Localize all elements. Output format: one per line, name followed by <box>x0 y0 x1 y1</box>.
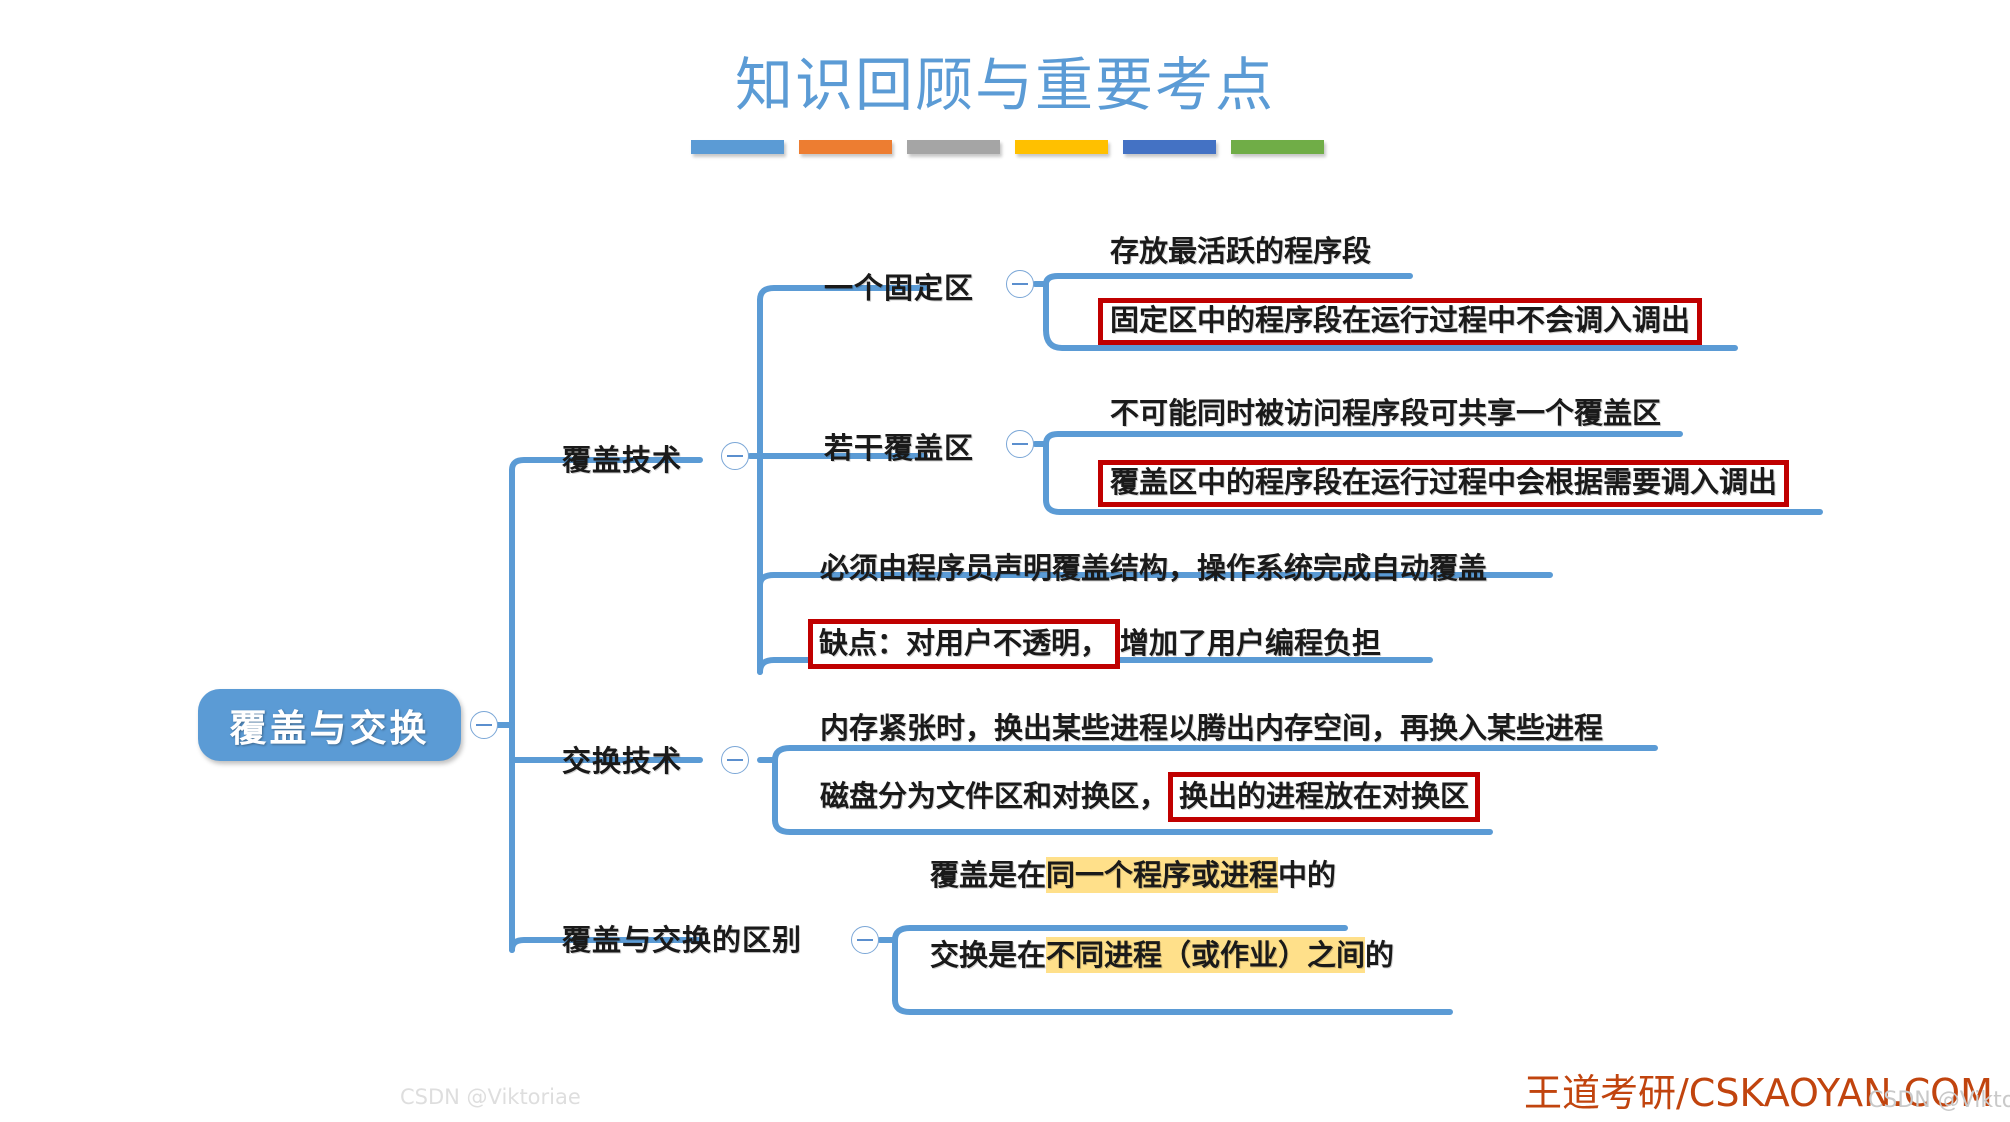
leaf-overlay-same-process-pre: 覆盖是在 <box>930 858 1046 892</box>
bar-green <box>1231 140 1324 154</box>
page-title: 知识回顾与重要考点 <box>0 38 2010 122</box>
csdn-watermark-left: CSDN @Viktoriae <box>400 1085 581 1109</box>
toggle-fixed-area[interactable] <box>1006 270 1034 298</box>
branch-label-difference[interactable]: 覆盖与交换的区别 <box>562 917 802 959</box>
node-fixed-area[interactable]: 一个固定区 <box>824 265 974 307</box>
leaf-swap-between-processes-highlight: 不同进程（或作业）之间 <box>1046 937 1365 973</box>
branch-toggle-swap-technique[interactable] <box>721 746 749 774</box>
leaf-disk-file-swap-area-plain: 磁盘分为文件区和对换区， <box>820 779 1168 813</box>
leaf-overlay-area-swap-on-demand[interactable]: 覆盖区中的程序段在运行过程中会根据需要调入调出 <box>1098 460 1789 507</box>
root-collapse-toggle[interactable] <box>470 711 498 739</box>
leaf-fixed-area-no-swap-text: 固定区中的程序段在运行过程中不会调入调出 <box>1098 298 1702 345</box>
leaf-fixed-area-no-swap[interactable]: 固定区中的程序段在运行过程中不会调入调出 <box>1098 298 1702 345</box>
bar-blue-light <box>691 140 784 154</box>
title-accent-bars <box>691 140 1324 154</box>
branch-label-swap-technique[interactable]: 交换技术 <box>562 738 682 780</box>
root-node[interactable]: 覆盖与交换 <box>198 689 461 761</box>
leaf-overlay-area-swap-on-demand-text: 覆盖区中的程序段在运行过程中会根据需要调入调出 <box>1098 460 1789 507</box>
csdn-watermark-right: CSDN @Viktoriae <box>1868 1088 2010 1113</box>
leaf-programmer-declares-overlay[interactable]: 必须由程序员声明覆盖结构，操作系统完成自动覆盖 <box>820 545 1487 587</box>
bar-blue-dark <box>1123 140 1216 154</box>
leaf-overlay-same-process-post: 中的 <box>1278 858 1336 892</box>
bar-gold <box>1015 140 1108 154</box>
leaf-store-most-active-segment[interactable]: 存放最活跃的程序段 <box>1110 228 1371 270</box>
bar-gray <box>907 140 1000 154</box>
bar-orange <box>799 140 892 154</box>
leaf-disk-file-swap-area-boxed: 换出的进程放在对换区 <box>1168 772 1480 822</box>
branch-toggle-overlay-technique[interactable] <box>721 442 749 470</box>
leaf-swap-between-processes-post: 的 <box>1365 938 1394 972</box>
toggle-overlay-areas[interactable] <box>1006 430 1034 458</box>
node-overlay-areas[interactable]: 若干覆盖区 <box>824 425 974 467</box>
root-node-label: 覆盖与交换 <box>230 698 430 752</box>
branch-label-overlay-technique[interactable]: 覆盖技术 <box>562 437 682 479</box>
branch-toggle-difference[interactable] <box>851 926 879 954</box>
leaf-swap-between-processes-pre: 交换是在 <box>930 938 1046 972</box>
leaf-disk-file-swap-area[interactable]: 磁盘分为文件区和对换区，换出的进程放在对换区 <box>820 773 1480 815</box>
leaf-overlay-same-process-highlight: 同一个程序或进程 <box>1046 857 1278 893</box>
leaf-swap-out-in-processes[interactable]: 内存紧张时，换出某些进程以腾出内存空间，再换入某些进程 <box>820 705 1603 747</box>
leaf-overlay-drawback[interactable]: 缺点：对用户不透明，增加了用户编程负担 <box>808 620 1381 662</box>
leaf-swap-between-processes[interactable]: 交换是在不同进程（或作业）之间的 <box>930 932 1394 974</box>
leaf-overlay-drawback-rest: 增加了用户编程负担 <box>1120 626 1381 660</box>
slide-canvas: 知识回顾与重要考点 <box>0 0 2010 1122</box>
leaf-overlay-drawback-boxed: 缺点：对用户不透明， <box>808 619 1120 669</box>
leaf-shared-overlay-area[interactable]: 不可能同时被访问程序段可共享一个覆盖区 <box>1110 390 1661 432</box>
leaf-overlay-same-process[interactable]: 覆盖是在同一个程序或进程中的 <box>930 852 1336 894</box>
